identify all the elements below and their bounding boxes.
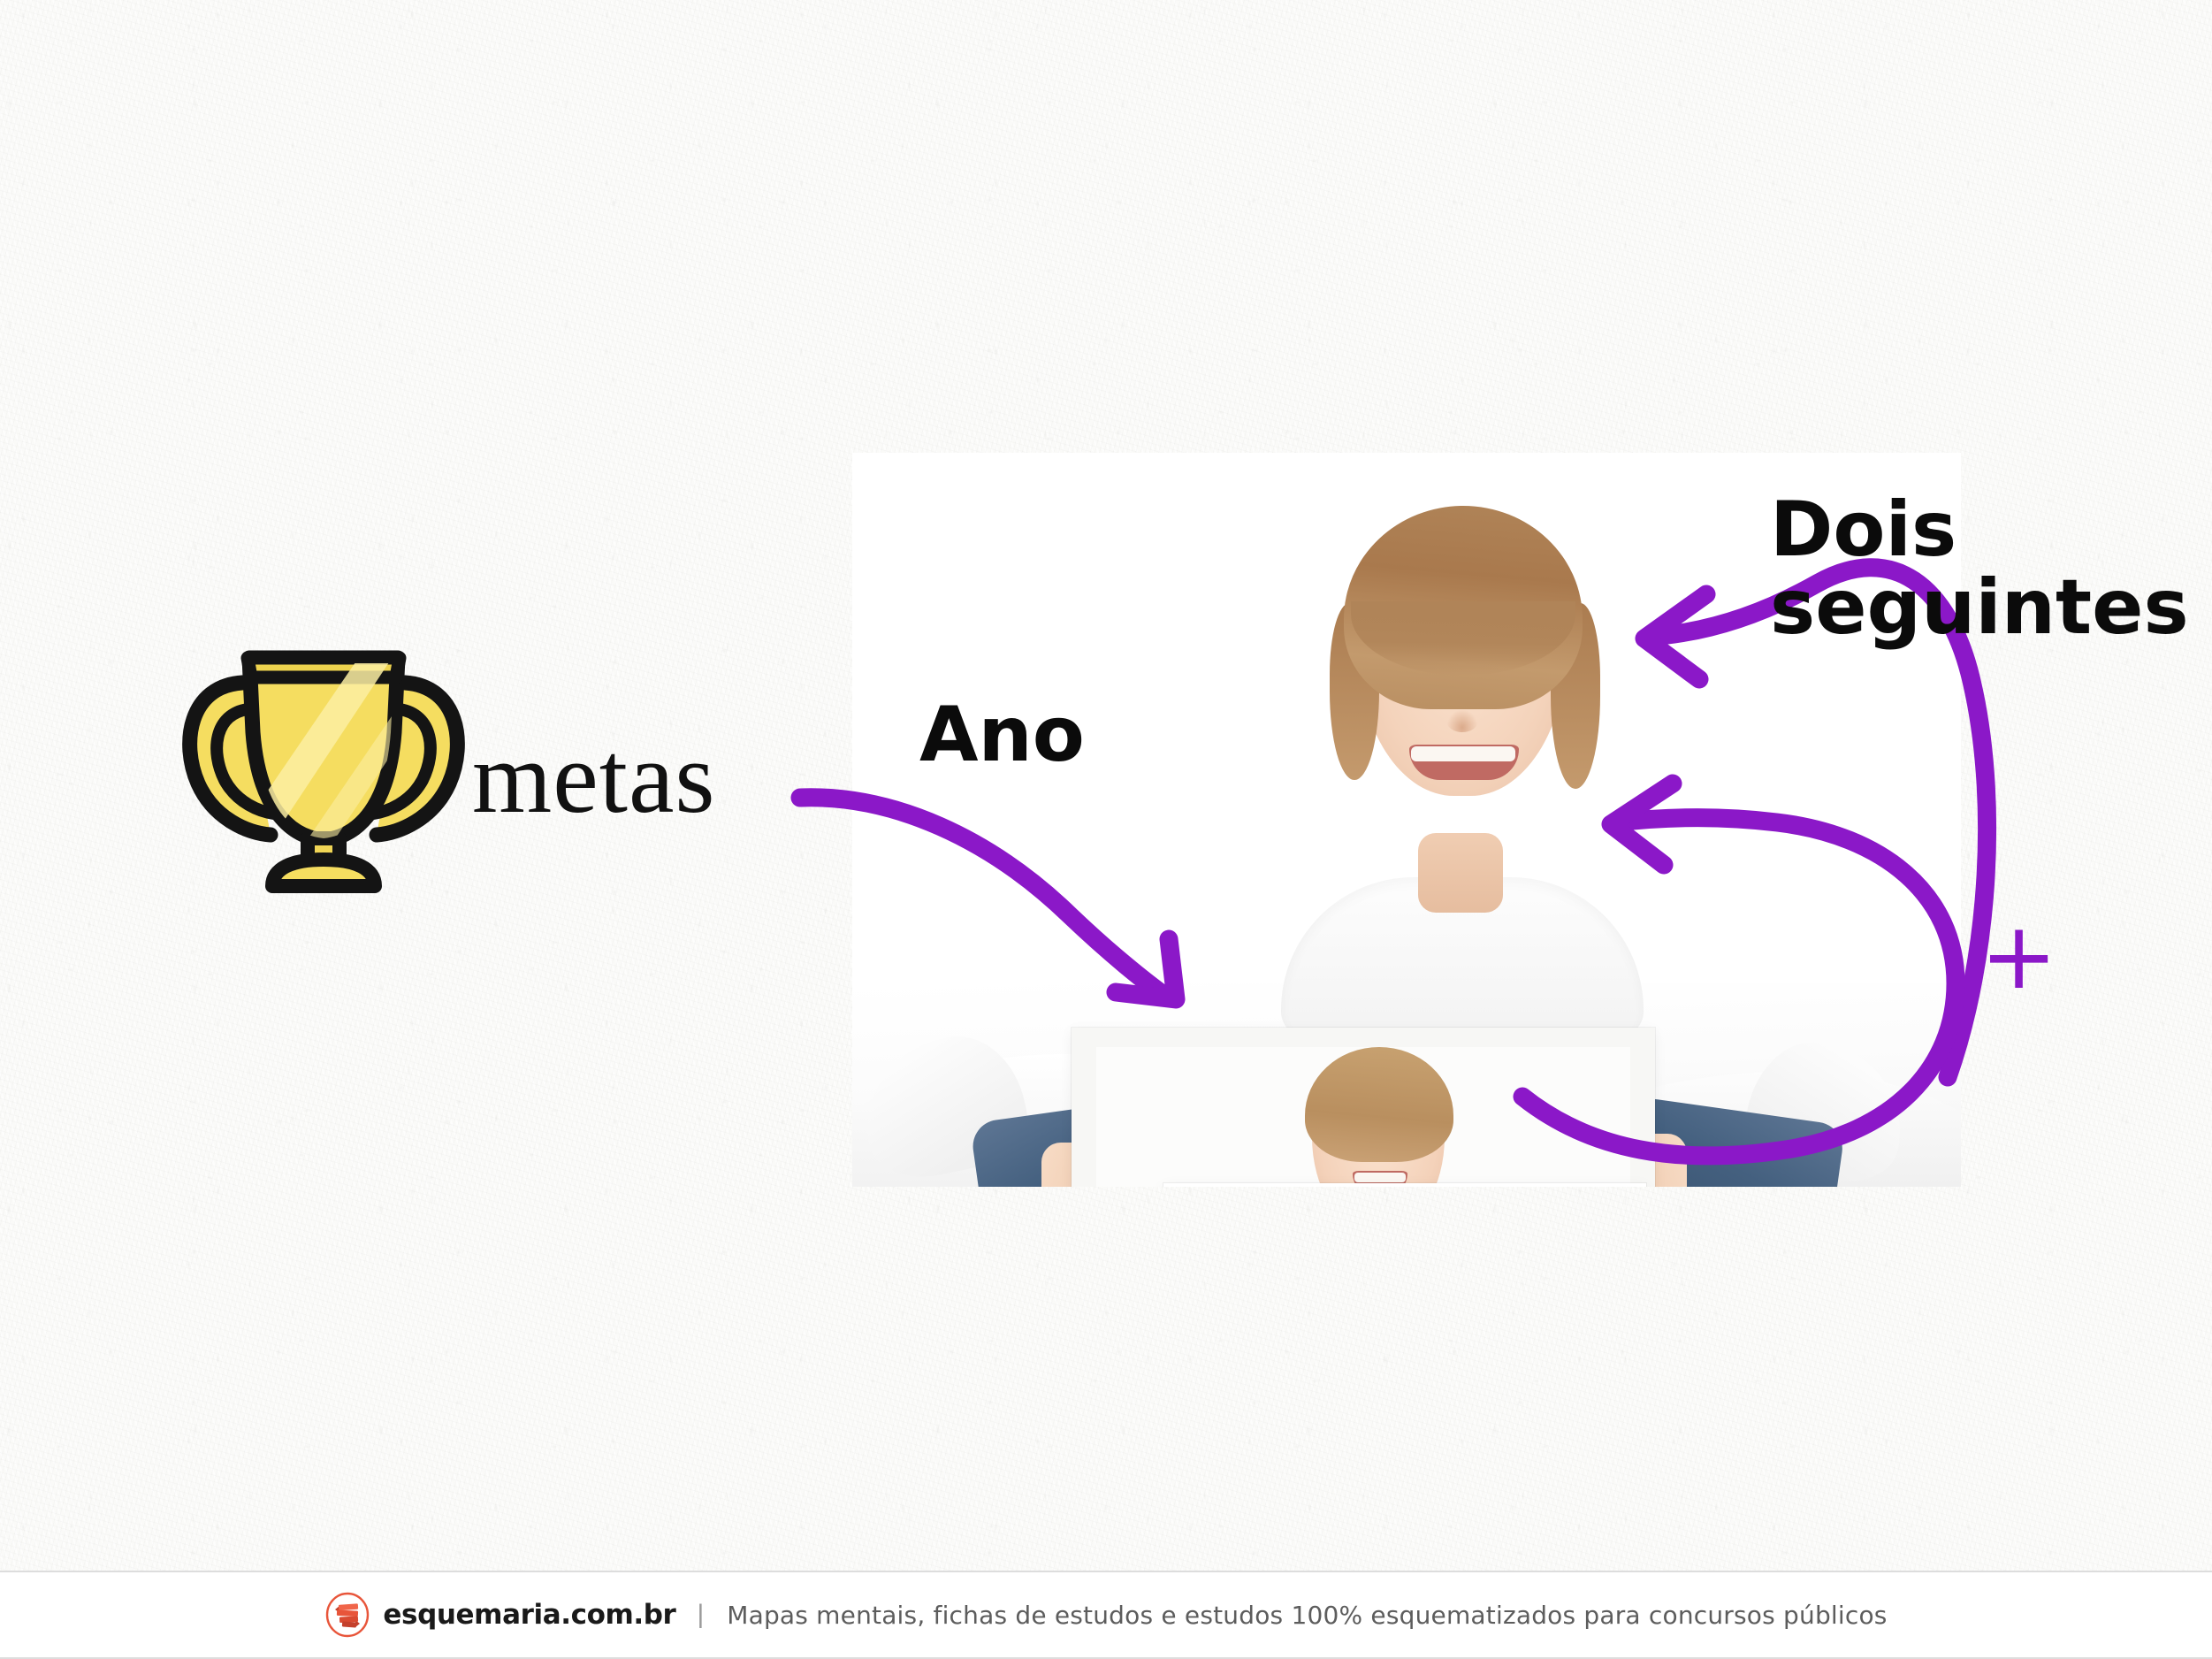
big-boy-teeth [1411, 746, 1515, 761]
footer-separator: | [697, 1600, 704, 1630]
footer-tagline: Mapas mentais, fichas de estudos e estud… [727, 1601, 1887, 1630]
slide-canvas: metas [0, 0, 2212, 1659]
big-boy-hair [1344, 506, 1583, 709]
footer-brand-name: esquemaria.com.br [383, 1599, 675, 1631]
plus-symbol: + [1980, 929, 2057, 983]
footer-bar: esquemaria.com.br | Mapas mentais, ficha… [0, 1571, 2212, 1659]
trophy-icon [173, 628, 474, 893]
keyword-metas: metas [472, 727, 716, 829]
photo-board-inner [1163, 1183, 1646, 1187]
big-boy-neck [1418, 833, 1503, 913]
big-boy-nose [1446, 709, 1478, 732]
esquemaria-logo-icon [324, 1592, 370, 1638]
middle-child-teeth [1354, 1173, 1406, 1182]
annotation-label-dois-seguintes: Dois seguintes [1770, 492, 2189, 646]
annotation-label-ano: Ano [919, 697, 1085, 775]
